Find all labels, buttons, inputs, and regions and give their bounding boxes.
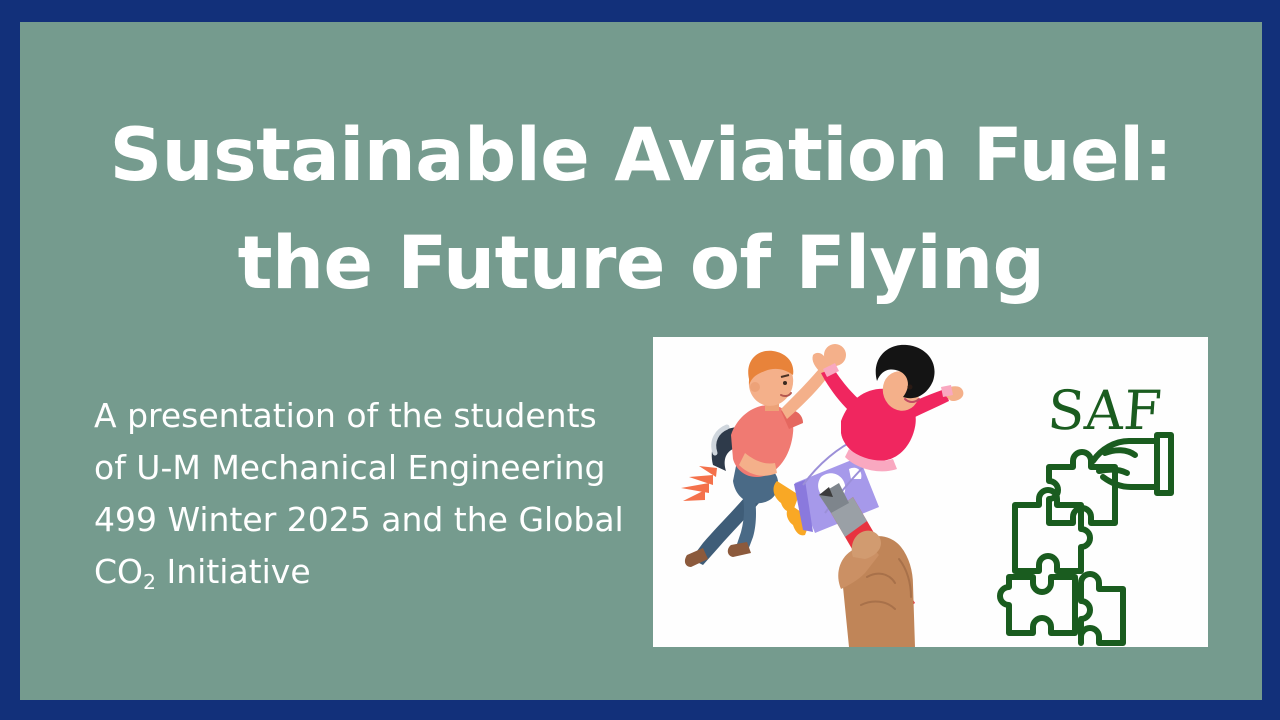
subtitle-text: A presentation of the students of U-M Me… <box>94 390 634 602</box>
whiteboard-illustration: SAF <box>653 337 1208 647</box>
title-line-2: the Future of Flying <box>20 210 1262 318</box>
man-eye <box>783 381 787 385</box>
subtitle-subscript: 2 <box>143 570 156 594</box>
page-title: Sustainable Aviation Fuel: the Future of… <box>20 102 1262 318</box>
saf-label-text: SAF <box>1046 379 1164 442</box>
puzzle-hand-thumb-icon <box>1099 470 1127 473</box>
slide-canvas: Sustainable Aviation Fuel: the Future of… <box>20 22 1262 700</box>
saf-label: SAF <box>1046 379 1164 442</box>
subtitle-part-2: Initiative <box>156 552 311 591</box>
title-line-1: Sustainable Aviation Fuel: <box>20 102 1262 210</box>
woman-eye <box>908 385 913 390</box>
illustration-panel: SAF <box>653 337 1208 647</box>
man-ear <box>750 382 760 392</box>
slide-root: Sustainable Aviation Fuel: the Future of… <box>0 0 1280 720</box>
woman-cuff-right <box>941 385 953 397</box>
